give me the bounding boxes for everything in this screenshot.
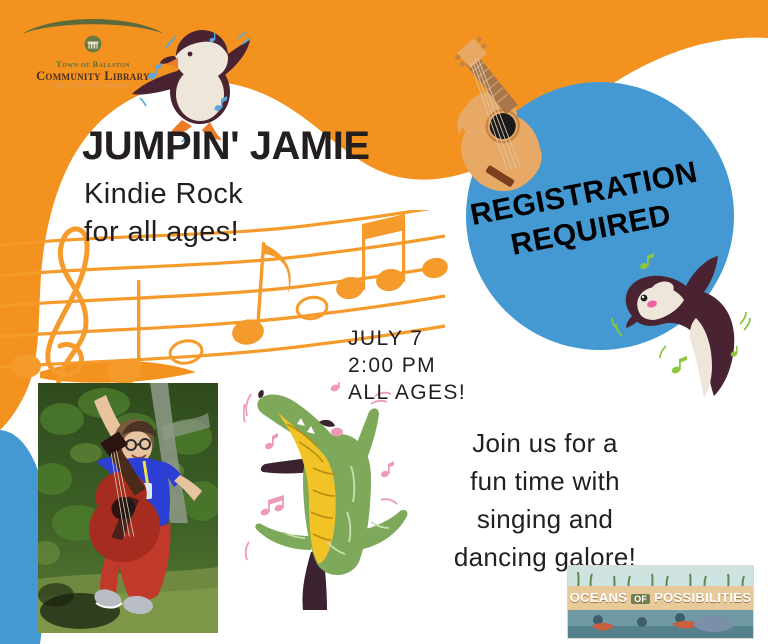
logo-crest-icon [84, 35, 102, 53]
event-details: JULY 7 2:00 PM ALL AGES! [348, 325, 466, 406]
subtitle-line-2: for all ages! [84, 213, 243, 251]
note-head [11, 354, 41, 378]
oceans-caption-part2: POSSIBILITIES [654, 590, 751, 605]
performer-photo [38, 383, 218, 633]
page-title: JUMPIN' JAMIE [82, 124, 370, 169]
half-note-head [295, 295, 328, 321]
event-date: JULY 7 [348, 325, 466, 352]
event-audience: ALL AGES! [348, 379, 466, 406]
event-description: Join us for a fun time with singing and … [400, 424, 690, 576]
event-time: 2:00 PM [348, 352, 466, 379]
singing-orca-icon [604, 250, 768, 400]
subtitle: Kindie Rock for all ages! [84, 175, 243, 251]
note-head [108, 360, 140, 385]
description-line-2: fun time with [400, 462, 690, 500]
oceans-caption-of: OF [631, 594, 650, 604]
description-line-1: Join us for a [400, 424, 690, 462]
event-poster: Town of Ballston Community Library Conne… [0, 0, 768, 644]
subtitle-line-1: Kindie Rock [84, 175, 243, 213]
dancing-alligator-icon [243, 382, 423, 612]
half-note-head [168, 338, 203, 365]
description-line-3: singing and [400, 500, 690, 538]
oceans-caption-part1: OCEANS [570, 590, 627, 605]
oceans-of-possibilities-badge: OCEANS OF POSSIBILITIES [567, 565, 754, 639]
note-head [420, 256, 450, 281]
note-head [374, 266, 406, 293]
oceans-caption: OCEANS OF POSSIBILITIES [568, 587, 753, 610]
